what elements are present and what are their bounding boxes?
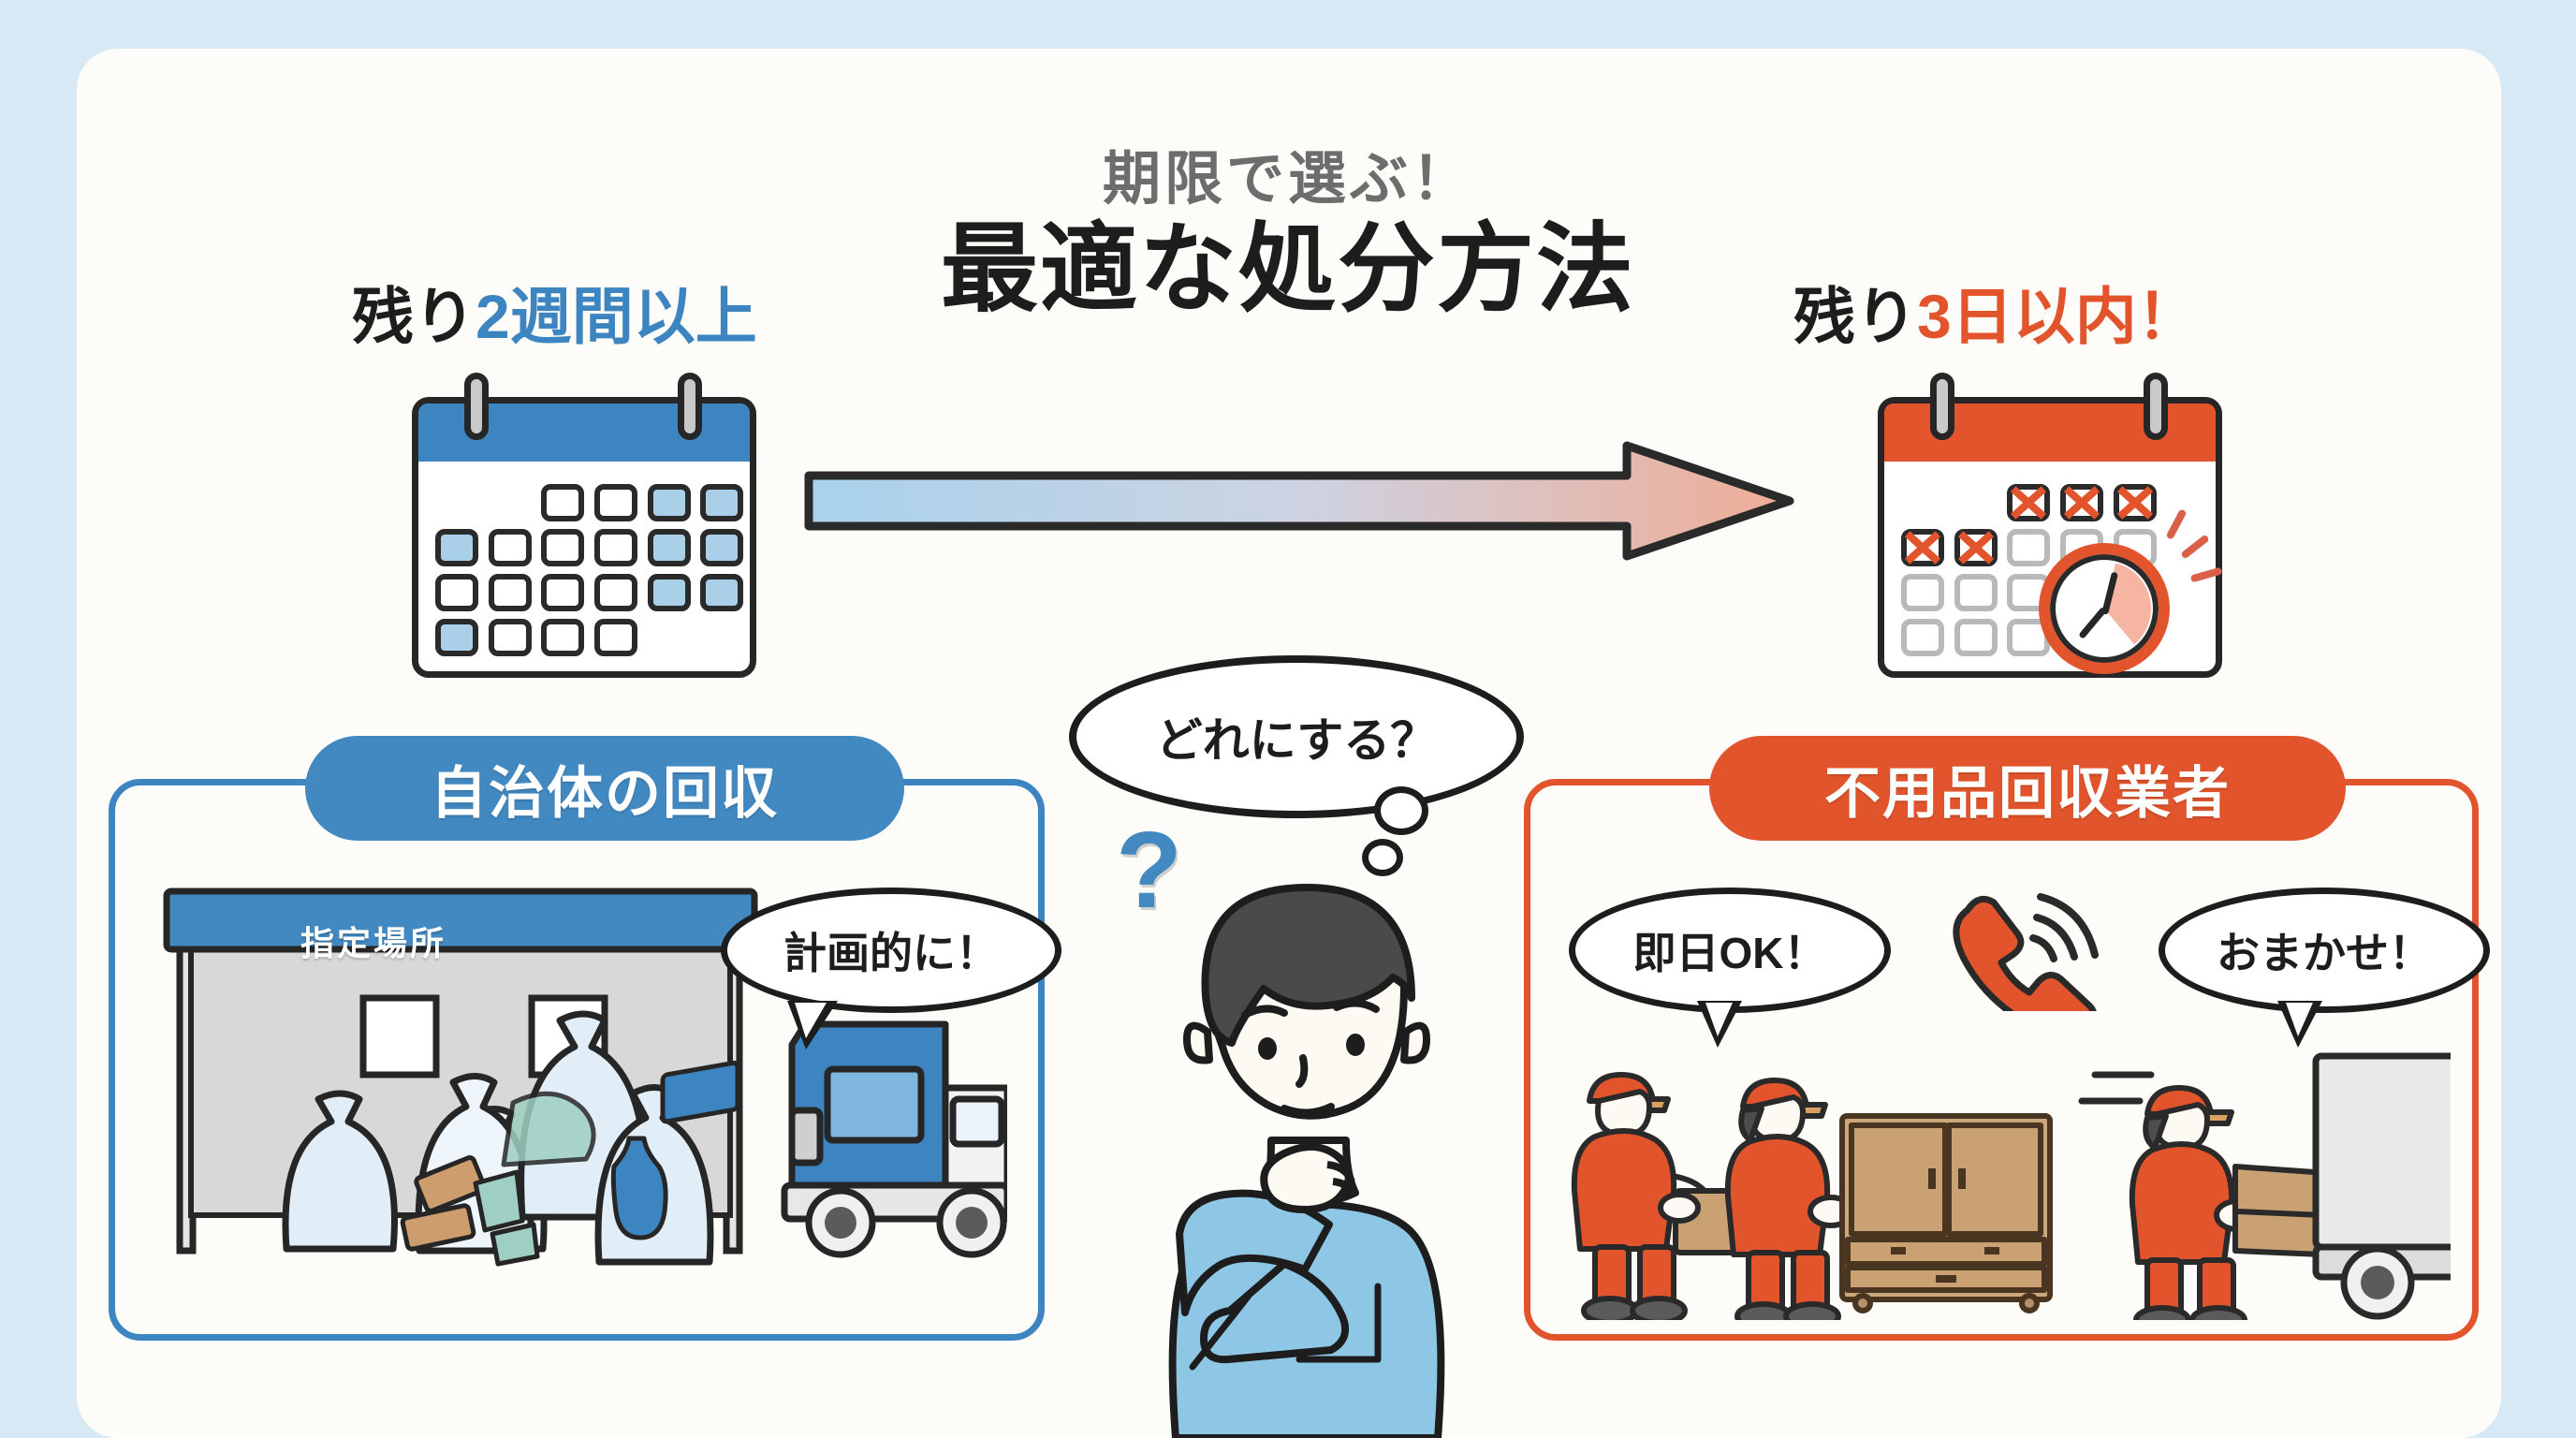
alarm-clock-icon xyxy=(2039,543,2170,674)
thought-bubble-text: どれにする？ xyxy=(1156,703,1438,770)
title-text: 最適な処分方法 xyxy=(924,217,1652,322)
infographic-canvas: 期限で選ぶ！ 最適な処分方法 残り2週間以上 残り3日以内！ xyxy=(0,0,2576,1438)
bubble-leave-it-to-us: おまかせ！ xyxy=(2159,888,2490,1013)
right-deadline-label: 残り3日以内！ xyxy=(1793,267,2199,357)
calendar-ring-right xyxy=(2144,373,2168,440)
calendar-ring-right xyxy=(678,373,702,440)
bubble-tail xyxy=(1697,1001,1742,1048)
badge-municipal-collection[interactable]: 自治体の回収 xyxy=(305,736,904,841)
designated-place-sign: 指定場所 xyxy=(247,914,500,968)
movers-loading-truck-illustration xyxy=(1561,1011,2451,1320)
thought-bubble: どれにする？ xyxy=(1069,655,1524,818)
calendar-ring-left xyxy=(1930,373,1954,440)
bubble-plan-text: 計画的に！ xyxy=(783,919,999,981)
thought-dot-large xyxy=(1374,786,1428,835)
phone-ringing-icon xyxy=(1939,880,2127,1011)
thinking-person-illustration xyxy=(1120,831,1494,1438)
bubble-tail xyxy=(787,1001,838,1049)
left-label-prefix: 残り xyxy=(352,282,476,351)
right-label-emphasis: 3日以内！ xyxy=(1917,282,2199,351)
badge-private-hauler[interactable]: 不用品回収業者 xyxy=(1709,736,2346,841)
calendar-ring-left xyxy=(464,373,489,440)
subtitle: 期限で選ぶ！ xyxy=(0,131,2576,215)
right-label-prefix: 残り xyxy=(1793,282,1917,351)
bubble-plan-ahead: 計画的に！ xyxy=(721,888,1061,1013)
gradient-arrow-right-icon xyxy=(803,440,1795,562)
bubble-same-day-ok: 即日OK！ xyxy=(1569,888,1891,1013)
bubble-tail xyxy=(2277,1001,2322,1048)
bubble-leave-it-text: おまかせ！ xyxy=(2217,919,2432,981)
bubble-same-day-text: 即日OK！ xyxy=(1633,919,1827,981)
left-deadline-label: 残り2週間以上 xyxy=(352,267,757,357)
calendar-body xyxy=(412,397,756,678)
left-label-emphasis: 2週間以上 xyxy=(476,282,757,351)
calendar-grid xyxy=(435,484,746,656)
